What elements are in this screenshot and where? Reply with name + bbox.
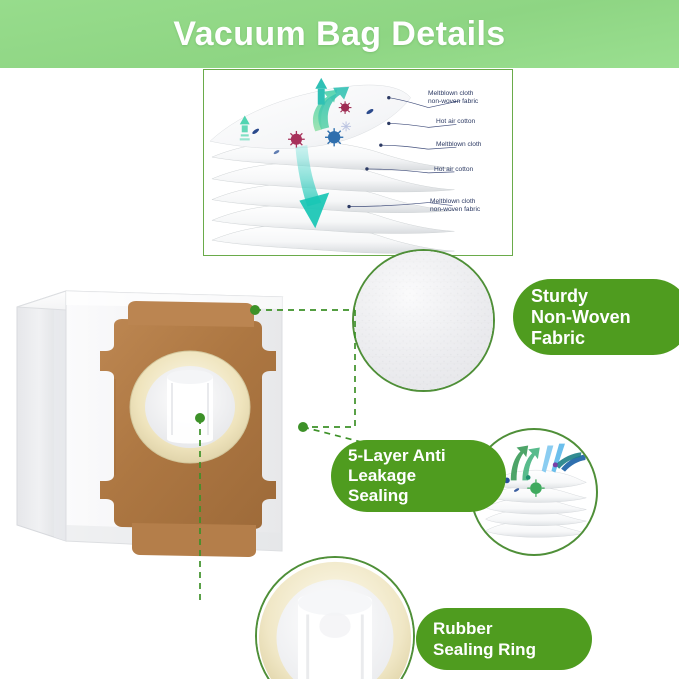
layer-label-5-line1: Meltblown cloth bbox=[430, 198, 480, 206]
callout-ring-line1: Rubber bbox=[433, 618, 536, 639]
callout-five-layer-anti-leakage-sealing[interactable]: 5-Layer Anti Leakage Sealing bbox=[331, 440, 506, 512]
callout-ring-line2: Sealing Ring bbox=[433, 639, 536, 660]
layer-label-2-line1: Hot air cotton bbox=[436, 118, 475, 126]
layer-label-5: Meltblown cloth non-woven fabric bbox=[430, 198, 480, 215]
callout-layers-line1: 5-Layer Anti bbox=[348, 446, 446, 466]
rubber-sealing-ring-closeup bbox=[255, 556, 415, 679]
rubber-sealing-ring bbox=[130, 351, 250, 463]
vacuum-bag-photo bbox=[14, 279, 302, 577]
layer-label-5-line2: non-woven fabric bbox=[430, 206, 480, 214]
layer-label-2: Hot air cotton bbox=[436, 118, 475, 126]
callout-sturdy-line1: Sturdy bbox=[531, 286, 631, 307]
layer-label-3-line1: Meltblown cloth bbox=[436, 141, 481, 149]
callout-sturdy-non-woven-fabric[interactable]: Sturdy Non-Woven Fabric bbox=[513, 279, 679, 355]
infographic-page: Vacuum Bag Details bbox=[0, 0, 679, 679]
layer-diagram-panel: Meltblown cloth non-woven fabric Hot air… bbox=[203, 69, 513, 256]
layer-label-1-line1: Meltblown cloth bbox=[428, 90, 478, 98]
incoming-air-arrows bbox=[542, 444, 587, 473]
page-title: Vacuum Bag Details bbox=[0, 0, 679, 68]
layer-label-1-line2: non-woven fabric bbox=[428, 98, 478, 106]
callout-sturdy-line2: Non-Woven bbox=[531, 307, 631, 328]
layer-label-4-line1: Hot air cotton bbox=[434, 166, 473, 174]
non-woven-fabric-closeup bbox=[352, 249, 495, 392]
callout-sturdy-line3: Fabric bbox=[531, 328, 631, 349]
layer-label-3: Meltblown cloth bbox=[436, 141, 481, 149]
callout-layers-line3: Sealing bbox=[348, 486, 446, 506]
layer-label-1: Meltblown cloth non-woven fabric bbox=[428, 90, 478, 107]
callout-rubber-sealing-ring[interactable]: Rubber Sealing Ring bbox=[416, 608, 592, 670]
rubber-ring-closeup-illustration bbox=[257, 558, 413, 679]
header-banner: Vacuum Bag Details bbox=[0, 0, 679, 68]
callout-layers-line2: Leakage bbox=[348, 466, 446, 486]
fabric-weave-pattern bbox=[354, 251, 493, 390]
layer-label-4: Hot air cotton bbox=[434, 166, 473, 174]
